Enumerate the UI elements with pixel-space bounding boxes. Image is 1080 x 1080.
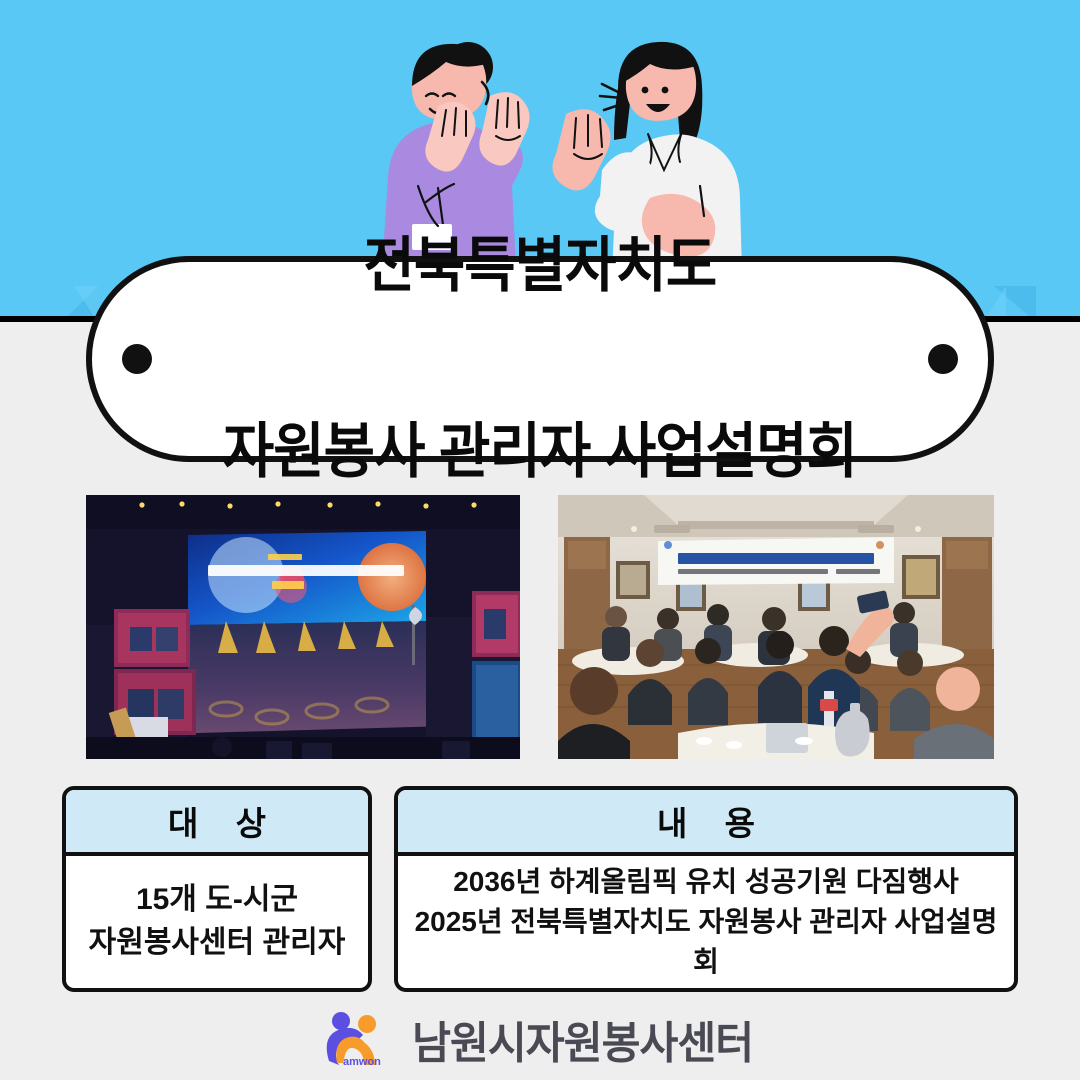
info-boxes: 대 상 15개 도-시군 자원봉사센터 관리자 내 용 2036년 하계올림픽 … — [62, 786, 1018, 992]
target-box: 대 상 15개 도-시군 자원봉사센터 관리자 — [62, 786, 372, 992]
title-plate: 전북특별자치도 자원봉사 관리자 사업설명회 — [86, 256, 994, 462]
stage-ceremony-photo — [86, 495, 520, 759]
footer: amwon 남원시자원봉사센터 — [0, 1004, 1080, 1074]
page-title-line-1: 전북특별자치도 — [223, 235, 857, 297]
svg-text:amwon: amwon — [343, 1056, 381, 1068]
target-box-body: 15개 도-시군 자원봉사센터 관리자 — [66, 856, 368, 988]
conference-room-photo — [558, 495, 994, 759]
content-box-body: 2036년 하계올림픽 유치 성공기원 다짐행사 2025년 전북특별자치도 자… — [398, 856, 1014, 988]
photo-gallery — [0, 495, 1080, 759]
target-box-header: 대 상 — [66, 790, 368, 856]
namwon-volunteer-center-logo-icon: amwon — [319, 1007, 391, 1071]
plate-dot-right — [928, 344, 958, 374]
footer-organization-name: 남원시자원봉사센터 — [412, 1007, 753, 1071]
content-box: 내 용 2036년 하계올림픽 유치 성공기원 다짐행사 2025년 전북특별자… — [394, 786, 1018, 992]
content-box-header: 내 용 — [398, 790, 1014, 856]
plate-dot-left — [122, 344, 152, 374]
page-title-line-2: 자원봉사 관리자 사업설명회 — [223, 421, 857, 483]
